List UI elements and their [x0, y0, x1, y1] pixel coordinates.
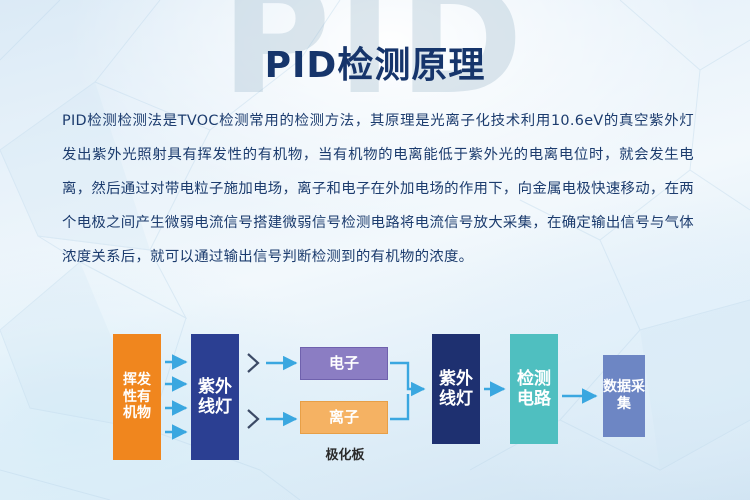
pid-principle-diagram: 挥发性有机物 紫外线灯 电子 离子 紫外线灯 检测电路 数据采集 极化板 [0, 322, 750, 500]
page-root: PID PID检测原理 PID检测检测法是TVOC检测常用的检测方法，其原理是光… [0, 0, 750, 500]
page-title: PID检测原理 [0, 36, 750, 88]
node-ion: 离子 [300, 401, 388, 434]
description-paragraph: PID检测检测法是TVOC检测常用的检测方法，其原理是光离子化技术利用10.6e… [62, 104, 694, 274]
node-uv-lamp-1: 紫外线灯 [191, 334, 239, 460]
node-uv-lamp-2: 紫外线灯 [432, 334, 480, 444]
diagram-caption-polarization-plate: 极化板 [297, 444, 393, 463]
node-detection-circuit: 检测电路 [510, 334, 558, 444]
node-electron: 电子 [300, 347, 388, 380]
node-data-acquisition: 数据采集 [603, 355, 645, 437]
node-volatile-organic-matter: 挥发性有机物 [113, 334, 161, 460]
